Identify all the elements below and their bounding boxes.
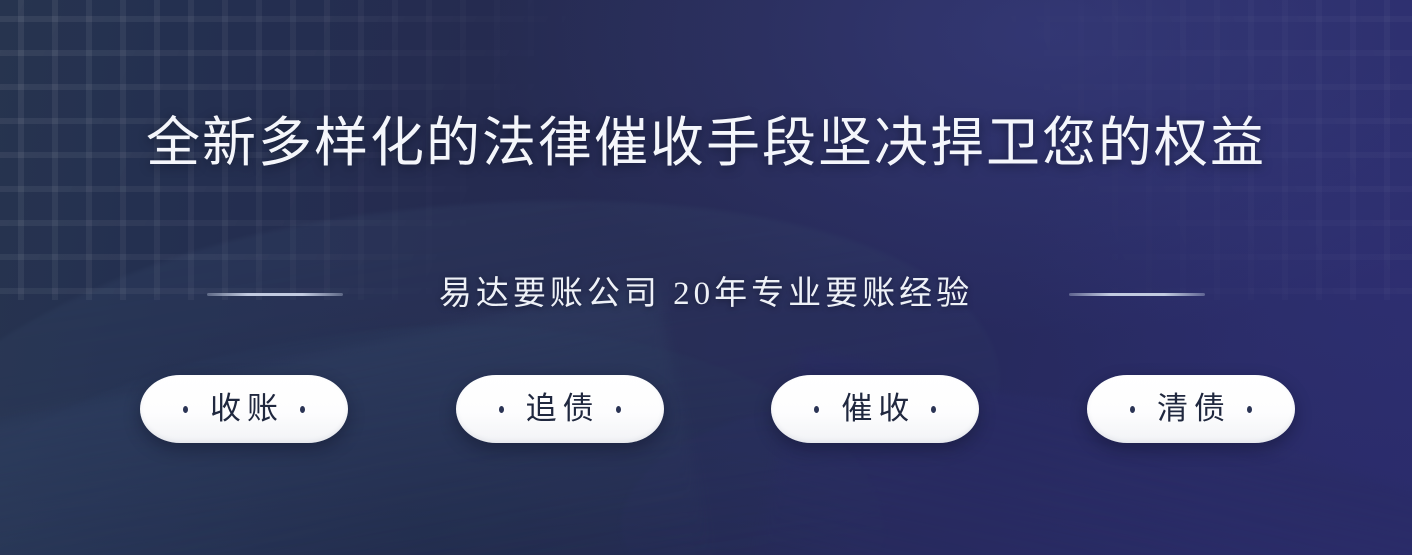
divider-rule-right: [1069, 293, 1205, 296]
bullet-dot-icon: [499, 406, 504, 413]
service-tag-qingzhai[interactable]: 清债: [1087, 375, 1295, 443]
bullet-dot-icon: [1247, 406, 1252, 413]
bullet-dot-icon: [931, 406, 936, 413]
promo-banner: 全新多样化的法律催收手段坚决捍卫您的权益 易达要账公司 20年专业要账经验 收账…: [0, 0, 1412, 555]
service-tag-label: 收账: [204, 389, 284, 429]
banner-subtitle: 易达要账公司 20年专业要账经验: [439, 272, 973, 316]
bullet-dot-icon: [1130, 406, 1135, 413]
service-tag-zhuizhai[interactable]: 追债: [456, 375, 664, 443]
banner-headline: 全新多样化的法律催收手段坚决捍卫您的权益: [0, 109, 1412, 177]
service-tag-row: 收账 追债 催收 清债: [140, 375, 1295, 443]
service-tag-cuishou[interactable]: 催收: [771, 375, 979, 443]
banner-subtitle-row: 易达要账公司 20年专业要账经验: [0, 270, 1412, 318]
bullet-dot-icon: [616, 406, 621, 413]
bullet-dot-icon: [300, 406, 305, 413]
service-tag-label: 催收: [835, 389, 915, 429]
bullet-dot-icon: [183, 406, 188, 413]
banner-content: 全新多样化的法律催收手段坚决捍卫您的权益 易达要账公司 20年专业要账经验 收账…: [0, 0, 1412, 555]
service-tag-label: 追债: [520, 389, 600, 429]
service-tag-shouzhang[interactable]: 收账: [140, 375, 348, 443]
service-tag-label: 清债: [1151, 389, 1231, 429]
bullet-dot-icon: [814, 406, 819, 413]
divider-rule-left: [207, 293, 343, 296]
